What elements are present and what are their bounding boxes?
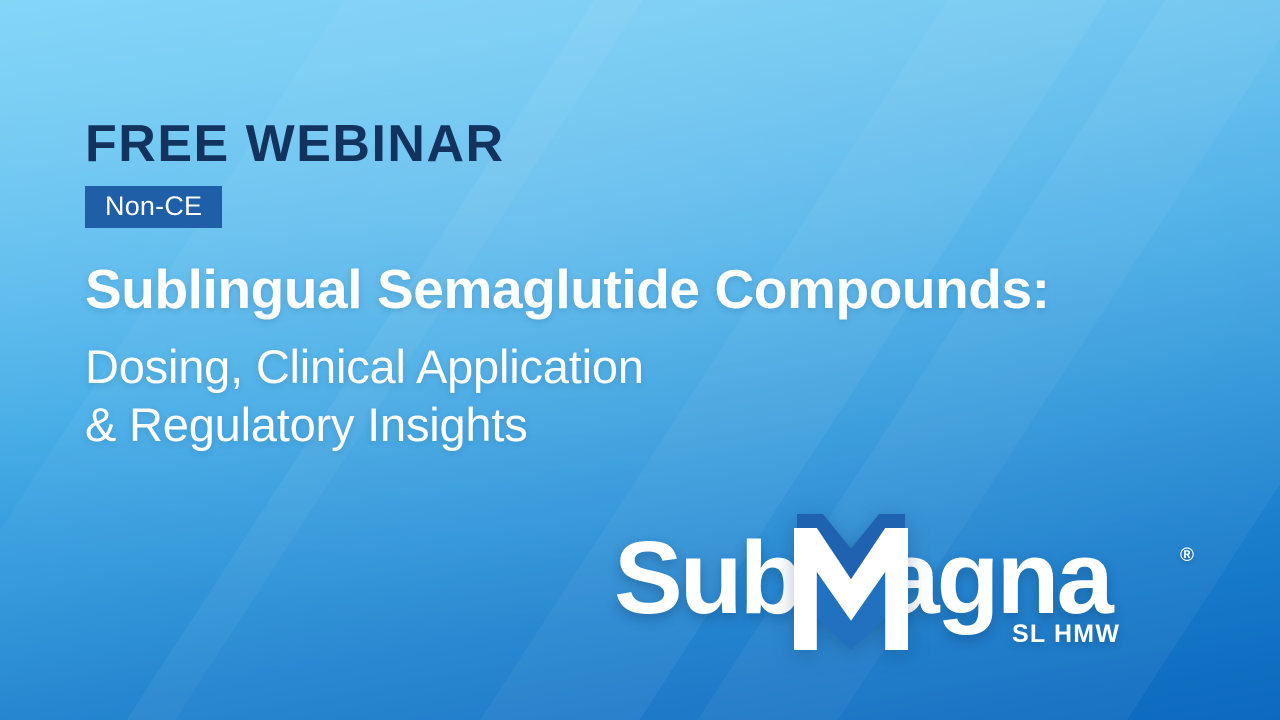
chevron-m-icon	[797, 512, 905, 650]
page-subtitle-line-2: & Regulatory Insights	[85, 396, 644, 454]
logo-wordmark-prefix: Sub	[614, 520, 800, 635]
eyebrow-heading: FREE WEBINAR	[85, 118, 505, 170]
status-badge: Non-CE	[85, 186, 222, 228]
page-subtitle-line-1: Dosing, Clinical Application	[85, 338, 644, 396]
webinar-promo-slide: FREE WEBINAR Non-CE Sublingual Semagluti…	[0, 0, 1280, 720]
registered-trademark-icon: ®	[1180, 546, 1194, 565]
logo-tagline: SL HMW	[1012, 622, 1120, 647]
submagna-logo: SubMagna ® SL HMW	[614, 512, 1214, 662]
logo-wordmark-suffix: agna	[882, 520, 1110, 635]
page-subtitle: Dosing, Clinical Application & Regulator…	[85, 338, 644, 455]
page-title: Sublingual Semaglutide Compounds:	[85, 262, 1050, 317]
